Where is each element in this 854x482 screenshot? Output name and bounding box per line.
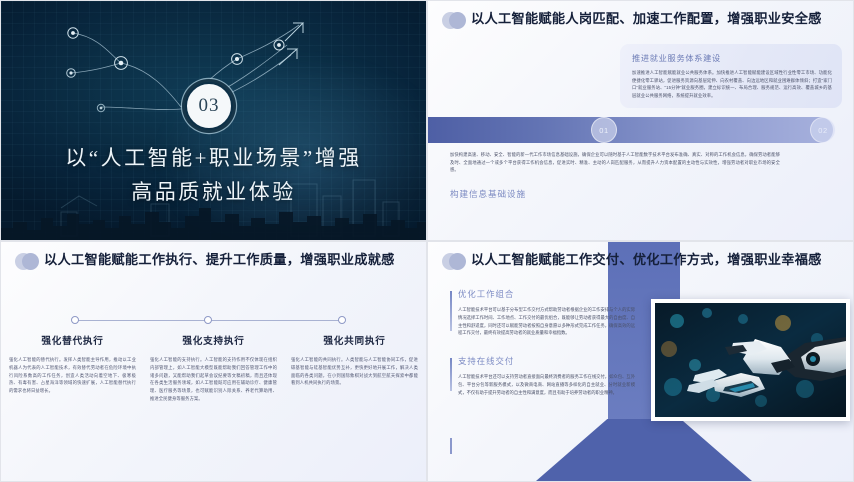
slide-job-matching[interactable]: 以人工智能赋能人岗匹配、加速工作配置，增强职业安全感 推进就业服务体系建设 加速…	[427, 0, 854, 241]
column-body: 强化人工智能的共同执行。人类智能与人工智能协同工作，促进碳基智能与硅基智能优势互…	[291, 356, 418, 387]
timeline-connector	[71, 316, 346, 325]
crescent-bullet-icon	[15, 252, 37, 272]
slide-header: 以人工智能赋能工作交付、优化工作方式，增强职业幸福感	[442, 250, 839, 272]
block-title: 优化工作组合	[458, 288, 635, 300]
section-title-line2: 高品质就业体验	[1, 175, 426, 209]
slide-heading: 以人工智能赋能工作执行、提升工作质量，增强职业成就感	[44, 250, 395, 269]
section-title: 以“人工智能+职业场景”增强 高品质就业体验	[1, 141, 426, 209]
section-title-line1: 以“人工智能+职业场景”增强	[1, 141, 426, 175]
slide-work-execution[interactable]: 以人工智能赋能工作执行、提升工作质量，增强职业成就感 强化替代执行 强化人工智能…	[0, 241, 427, 482]
execution-column[interactable]: 强化替代执行 强化人工智能的替代执行。发挥人类智能主导作用，推动以工业机器人为代…	[9, 333, 136, 403]
network-nodes-graphic	[41, 11, 341, 151]
accent-tick-mark	[450, 438, 452, 454]
execution-column[interactable]: 强化共同执行 强化人工智能的共同执行。人类智能与人工智能协同工作，促进碳基智能与…	[291, 333, 418, 403]
service-system-card[interactable]: 推进就业服务体系建设 加速推进人工智能赋能就业公共服务体系。加快推进人工智能赋能…	[620, 44, 842, 108]
slide-heading: 以人工智能赋能人岗匹配、加速工作配置，增强职业安全感	[471, 9, 822, 28]
infrastructure-title: 构建信息基础设施	[450, 188, 780, 200]
delivery-block[interactable]: 支持在线交付 人工智能技术平台还可以支持劳动者直接面向最终消费者的服务工作在线交…	[450, 355, 635, 396]
block-title: 支持在线交付	[458, 355, 635, 367]
slide-deck-grid: 03 以“人工智能+职业场景”增强 高品质就业体验 以人工智能赋能人岗匹配、加速…	[0, 0, 854, 482]
column-body: 强化人工智能的替代执行。发挥人类智能主导作用，推动以工业机器人为代表的人工智能技…	[9, 356, 136, 395]
robot-hands-photo	[651, 299, 850, 421]
delivery-block[interactable]: 优化工作组合 人工智能技术平台可以基于分布型工作交付方式帮助劳动者根据企业的工作…	[450, 288, 635, 337]
step-marker-01: 01	[591, 117, 617, 143]
slide-header: 以人工智能赋能工作执行、提升工作质量，增强职业成就感	[15, 250, 412, 272]
execution-column[interactable]: 强化支持执行 强化人工智能的支持执行。人工智能的支持作用不仅体现在组织内部管理上…	[150, 333, 277, 403]
timeline-dot-3	[338, 316, 346, 324]
section-number-badge: 03	[185, 82, 233, 130]
delivery-text-column: 优化工作组合 人工智能技术平台可以基于分布型工作交付方式帮助劳动者根据企业的工作…	[450, 288, 635, 415]
crescent-bullet-icon	[442, 252, 464, 272]
card-title: 推进就业服务体系建设	[632, 52, 832, 64]
block-body: 人工智能技术平台可以基于分布型工作交付方式帮助劳动者根据企业的工作安排与个人的实…	[458, 306, 635, 337]
crescent-bullet-icon	[442, 11, 464, 31]
execution-columns: 强化替代执行 强化人工智能的替代执行。发挥人类智能主导作用，推动以工业机器人为代…	[9, 333, 418, 403]
step-marker-02: 02	[810, 117, 836, 143]
infrastructure-body: 加快构建高速、移动、安全、智能的新一代工作市场信息基础设施，确保企业可以随时基于…	[450, 151, 780, 174]
infrastructure-block[interactable]: 加快构建高速、移动、安全、智能的新一代工作市场信息基础设施，确保企业可以随时基于…	[450, 151, 780, 200]
trapezoid-base-shape	[536, 419, 752, 481]
slide-section-divider[interactable]: 03 以“人工智能+职业场景”增强 高品质就业体验	[0, 0, 427, 241]
slide-work-delivery[interactable]: 以人工智能赋能工作交付、优化工作方式，增强职业幸福感 优化工作组合 人工智能技术…	[427, 241, 854, 482]
slide-heading: 以人工智能赋能工作交付、优化工作方式，增强职业幸福感	[471, 250, 822, 269]
card-body: 加速推进人工智能赋能就业公共服务体系。加快推进人工智能赋能建设区域性行业性零工市…	[632, 69, 832, 99]
column-title: 强化支持执行	[150, 333, 277, 347]
timeline-dot-1	[71, 316, 79, 324]
slide-header: 以人工智能赋能人岗匹配、加速工作配置，增强职业安全感	[442, 9, 839, 31]
column-title: 强化替代执行	[9, 333, 136, 347]
column-body: 强化人工智能的支持执行。人工智能的支持作用不仅体现在组织内部管理上，如人工智能大…	[150, 356, 277, 403]
progress-bar-graphic	[428, 117, 833, 143]
column-title: 强化共同执行	[291, 333, 418, 347]
timeline-dot-2	[204, 316, 212, 324]
block-body: 人工智能技术平台还可以支持劳动者直接面向最终消费者的服务工作在线交付，如众包、互…	[458, 373, 635, 396]
